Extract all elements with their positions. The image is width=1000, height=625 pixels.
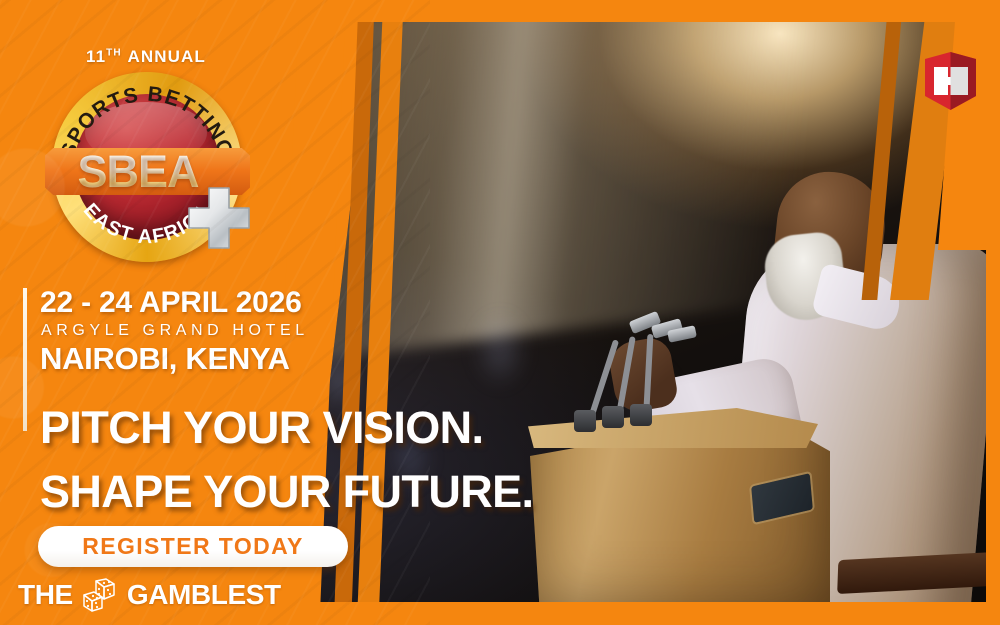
sbea-event-logo: SPORTS BETTING SBEA EAST AFRICA [45,72,250,272]
annual-word: ANNUAL [128,47,206,66]
publisher-logo[interactable]: THE GAMBLEST [18,578,281,612]
annual-ordinal-suffix: TH [106,47,122,58]
event-venue: ARGYLE GRAND HOTEL [41,322,309,340]
event-dates: 22 - 24 APRIL 2026 [40,286,302,320]
annual-edition-label: 11TH ANNUAL [86,47,206,67]
headline-line-1: PITCH YOUR VISION. [40,396,533,460]
dice-icon [74,578,126,612]
content-panel: 11TH ANNUAL SPORTS BETTING SBEA EAST AFR… [0,0,430,625]
brand-word-the: THE [18,579,73,611]
brand-word-gamblest: GAMBLEST [127,579,281,611]
register-today-button[interactable]: REGISTER TODAY [38,526,348,567]
accent-vertical-rule [23,288,27,431]
annual-number: 11 [86,47,106,66]
headline: PITCH YOUR VISION. SHAPE YOUR FUTURE. [40,396,533,524]
emblem-plus-icon [181,184,257,260]
right-edge-margin [986,0,1000,625]
microphone-base-2 [602,406,624,428]
headline-line-2: SHAPE YOUR FUTURE. [40,460,533,524]
microphone-base-3 [630,404,652,426]
event-promo-banner: 11TH ANNUAL SPORTS BETTING SBEA EAST AFR… [0,0,1000,625]
microphone-base-1 [574,410,596,432]
register-today-label: REGISTER TODAY [82,533,304,560]
event-city: NAIROBI, KENYA [40,341,290,377]
red-cube-badge-icon[interactable] [921,50,980,112]
